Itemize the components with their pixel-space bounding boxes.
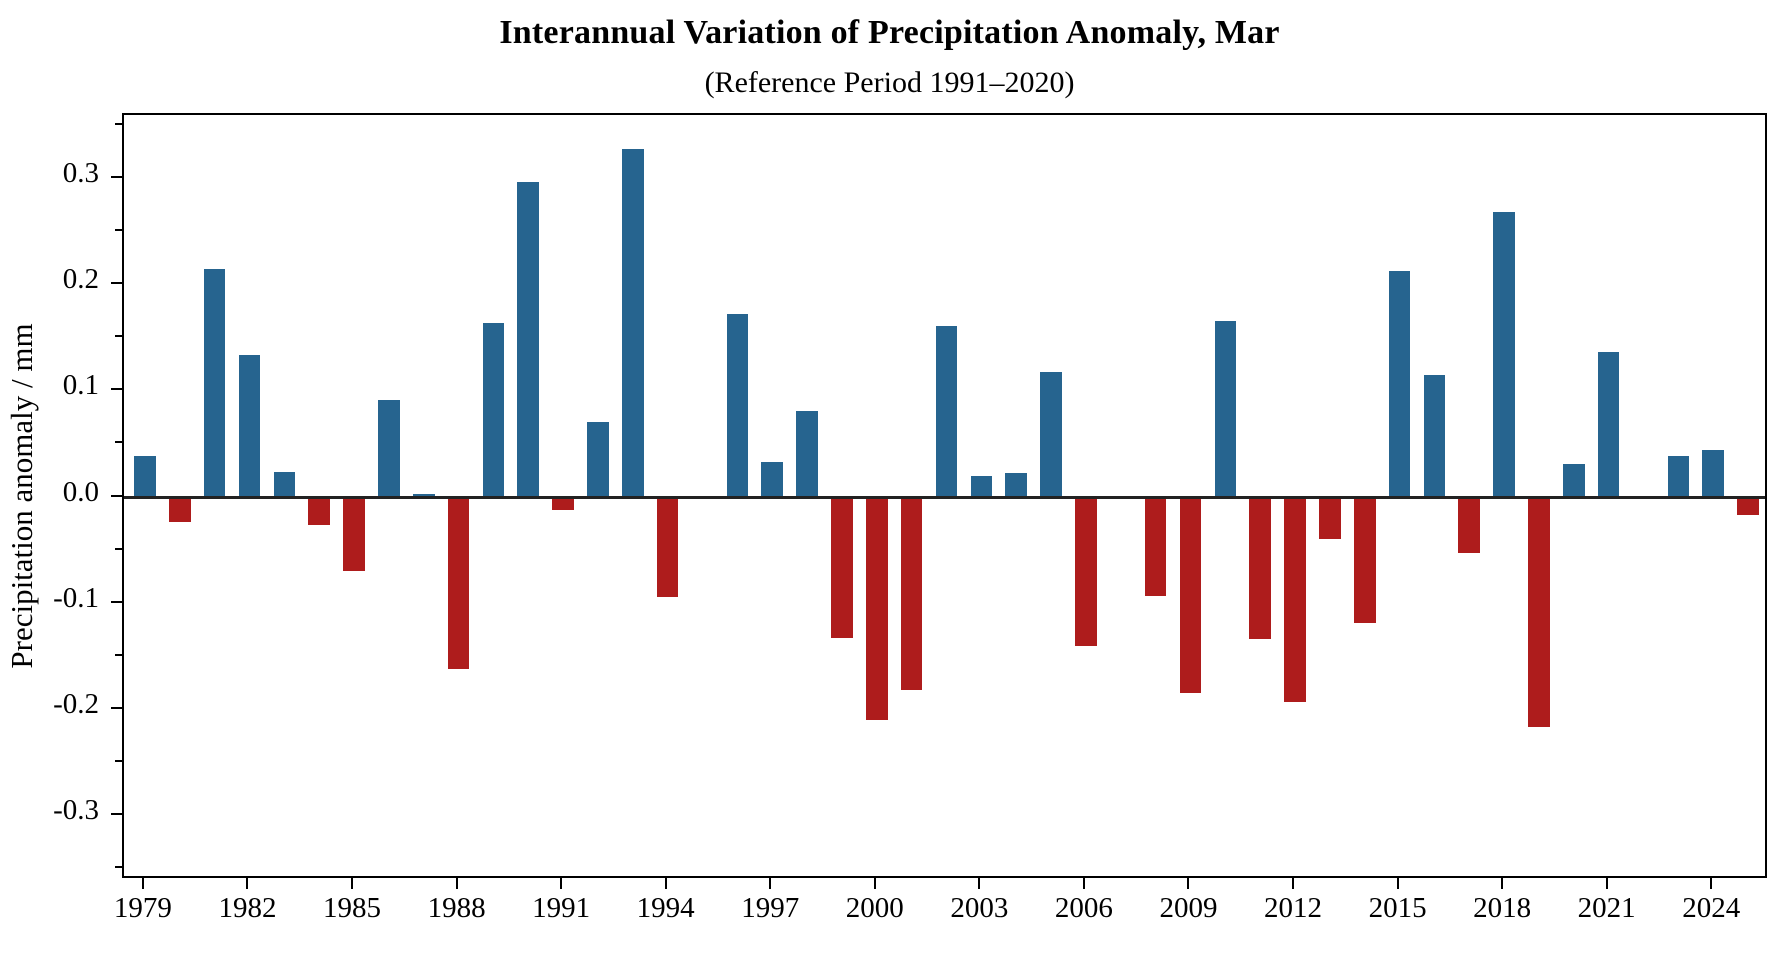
bar-1999 [831,498,853,638]
x-tick-label: 2006 [1024,892,1144,925]
bar-2009 [1180,498,1202,694]
y-tick-mark [111,707,122,709]
bar-1979 [134,456,156,497]
bar-2024 [1702,450,1724,498]
bar-1992 [587,422,609,497]
y-tick-mark [111,813,122,815]
bar-2018 [1493,212,1515,498]
x-tick-mark [560,878,562,889]
y-minor-tick [115,229,122,231]
y-minor-tick [115,760,122,762]
y-tick-mark [111,495,122,497]
bar-2002 [936,326,958,497]
bar-1998 [796,411,818,497]
x-tick-mark [1292,878,1294,889]
x-tick-mark [1187,878,1189,889]
x-tick-mark [1397,878,1399,889]
bar-2014 [1354,498,1376,623]
x-tick-label: 2003 [919,892,1039,925]
bar-2017 [1458,498,1480,553]
x-tick-label: 1991 [501,892,621,925]
plot-area [122,113,1767,878]
x-tick-mark [1083,878,1085,889]
y-tick-label: 0.3 [0,157,99,190]
bar-2015 [1389,271,1411,497]
x-tick-mark [874,878,876,889]
x-tick-mark [1606,878,1608,889]
bar-2025 [1737,498,1759,515]
bar-2008 [1145,498,1167,597]
x-tick-mark [769,878,771,889]
bar-1986 [378,400,400,498]
x-tick-label: 1979 [83,892,203,925]
x-tick-mark [665,878,667,889]
x-tick-label: 2009 [1128,892,1248,925]
bar-1980 [169,498,191,522]
y-tick-label: -0.2 [0,688,99,721]
x-tick-label: 1994 [606,892,726,925]
y-minor-tick [115,335,122,337]
x-tick-label: 2018 [1442,892,1562,925]
bar-1994 [657,498,679,598]
chart-title: Interannual Variation of Precipitation A… [0,14,1779,52]
bar-1988 [448,498,470,669]
x-tick-mark [456,878,458,889]
x-tick-label: 2012 [1233,892,1353,925]
x-tick-mark [142,878,144,889]
y-minor-tick [115,866,122,868]
bar-2020 [1563,464,1585,498]
bar-2013 [1319,498,1341,539]
bar-1984 [308,498,330,526]
x-tick-label: 1997 [710,892,830,925]
x-tick-label: 2021 [1547,892,1667,925]
y-tick-mark [111,601,122,603]
plot-inner [124,115,1765,876]
bar-2023 [1668,456,1690,497]
bar-2016 [1424,375,1446,497]
x-tick-label: 2024 [1651,892,1771,925]
bar-1983 [274,472,296,498]
x-tick-label: 1985 [292,892,412,925]
zero-baseline [124,496,1765,499]
bar-1981 [204,269,226,497]
bar-2019 [1528,498,1550,728]
bar-1997 [761,462,783,497]
bar-1989 [483,323,505,497]
y-tick-label: 0.2 [0,263,99,296]
bar-1982 [239,355,261,497]
bar-1990 [517,182,539,498]
x-tick-label: 1982 [187,892,307,925]
x-tick-mark [1710,878,1712,889]
x-tick-mark [246,878,248,889]
bar-2005 [1040,372,1062,497]
y-tick-label: 0.1 [0,369,99,402]
bar-2011 [1249,498,1271,639]
x-tick-label: 1988 [397,892,517,925]
y-minor-tick [115,123,122,125]
bar-1996 [727,314,749,498]
bar-2012 [1284,498,1306,702]
x-tick-label: 2015 [1338,892,1458,925]
bar-2000 [866,498,888,720]
y-tick-mark [111,388,122,390]
x-tick-mark [1501,878,1503,889]
y-tick-mark [111,282,122,284]
bar-2001 [901,498,923,690]
y-tick-label: -0.1 [0,582,99,615]
y-tick-label: 0.0 [0,476,99,509]
x-tick-label: 2000 [815,892,935,925]
x-tick-mark [978,878,980,889]
y-tick-mark [111,176,122,178]
chart-page: Interannual Variation of Precipitation A… [0,0,1779,980]
y-minor-tick [115,441,122,443]
bar-1985 [343,498,365,571]
y-tick-label: -0.3 [0,794,99,827]
x-tick-mark [351,878,353,889]
y-minor-tick [115,548,122,550]
bar-2021 [1598,352,1620,498]
bar-2010 [1215,321,1237,497]
y-minor-tick [115,654,122,656]
bar-2003 [971,476,993,497]
chart-subtitle: (Reference Period 1991–2020) [0,66,1779,100]
bar-2004 [1005,473,1027,497]
bar-1993 [622,149,644,498]
bar-1991 [552,498,574,511]
bar-2006 [1075,498,1097,647]
